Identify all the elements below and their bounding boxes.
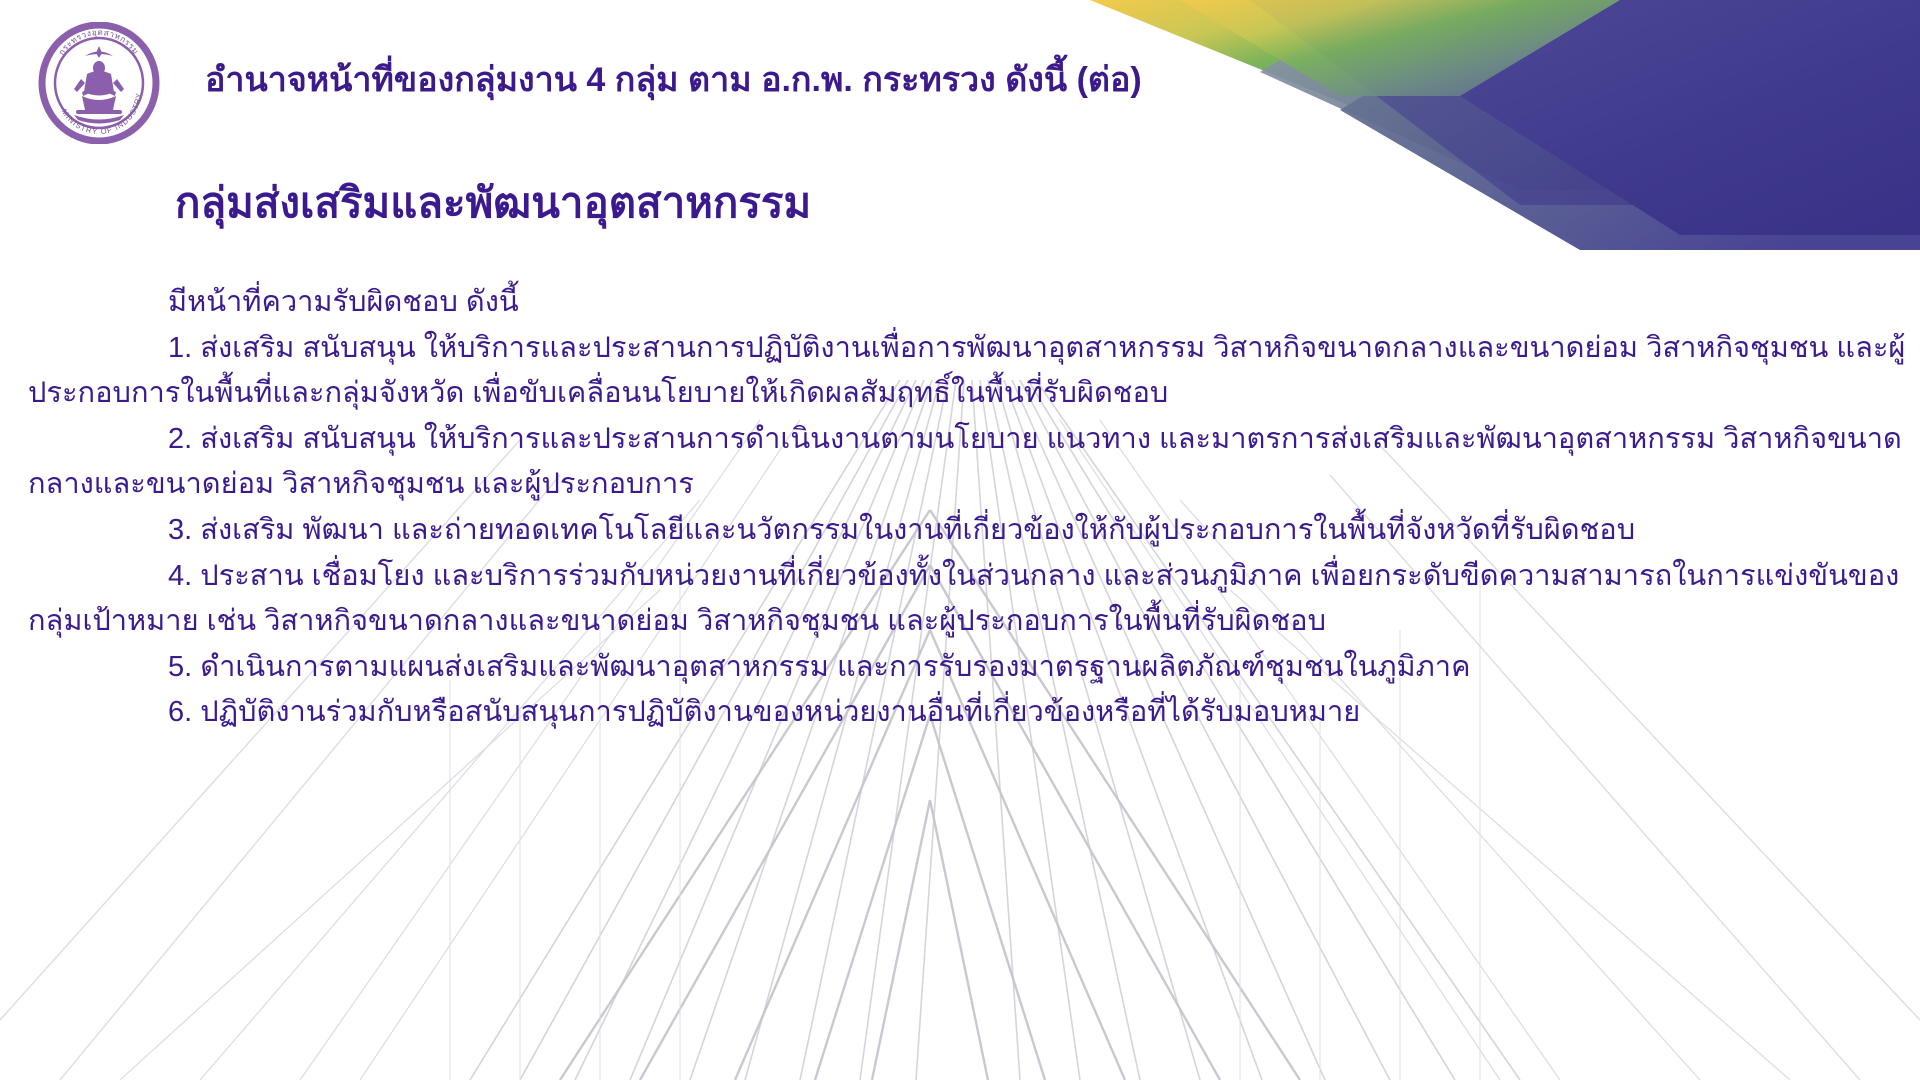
responsibilities-content: มีหน้าที่ความรับผิดชอบ ดังนี้ 1. ส่งเสริ… bbox=[28, 280, 1908, 736]
corner-ribbon-decoration bbox=[820, 0, 1920, 260]
slide-canvas: กระทรวงอุตสาหกรรม MINISTRY OF INDUSTRY อ… bbox=[0, 0, 1920, 1080]
section-heading: กลุ่มส่งเสริมและพัฒนาอุตสาหกรรม bbox=[175, 180, 811, 226]
responsibility-item-4: 4. ประสาน เชื่อมโยง และบริการร่วมกับหน่ว… bbox=[28, 554, 1908, 644]
responsibility-item-1: 1. ส่งเสริม สนับสนุน ให้บริการและประสานก… bbox=[28, 326, 1908, 416]
lead-in-text: มีหน้าที่ความรับผิดชอบ ดังนี้ bbox=[28, 280, 1908, 325]
responsibility-item-6: 6. ปฏิบัติงานร่วมกับหรือสนับสนุนการปฏิบั… bbox=[28, 690, 1908, 735]
responsibility-item-3: 3. ส่งเสริม พัฒนา และถ่ายทอดเทคโนโลยีและ… bbox=[28, 508, 1908, 553]
responsibility-item-5: 5. ดำเนินการตามแผนส่งเสริมและพัฒนาอุตสาห… bbox=[28, 645, 1908, 690]
ministry-of-industry-emblem-icon: กระทรวงอุตสาหกรรม MINISTRY OF INDUSTRY bbox=[38, 22, 160, 144]
responsibility-item-2: 2. ส่งเสริม สนับสนุน ให้บริการและประสานก… bbox=[28, 417, 1908, 507]
page-title: อำนาจหน้าที่ของกลุ่มงาน 4 กลุ่ม ตาม อ.ก.… bbox=[205, 62, 1142, 99]
